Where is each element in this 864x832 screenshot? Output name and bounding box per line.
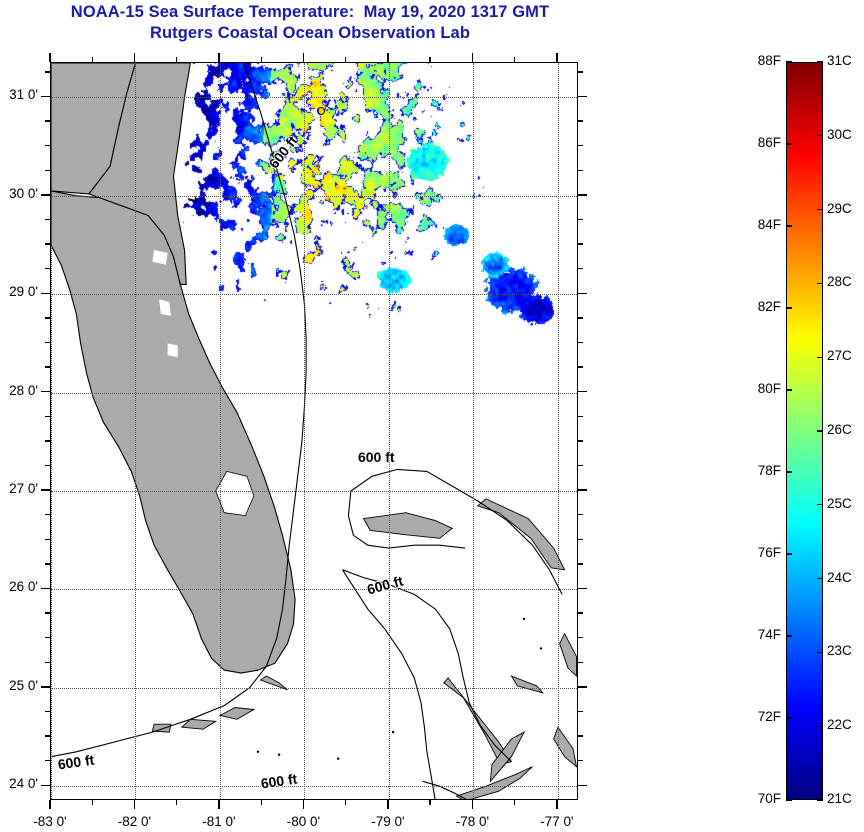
x-axis-tick-minor bbox=[176, 800, 177, 805]
x-axis-tick-top bbox=[218, 53, 219, 62]
colorbar-tick-c bbox=[817, 652, 823, 653]
colorbar-label-celsius: 30C bbox=[827, 127, 864, 142]
y-axis-label: 27 0' bbox=[0, 481, 38, 496]
y-axis-tick-minor bbox=[45, 317, 50, 318]
y-axis-tick-minor bbox=[45, 120, 50, 121]
gridline-horizontal bbox=[51, 491, 577, 492]
colorbar-label-fahrenheit: 86F bbox=[738, 135, 781, 150]
x-axis-tick-minor bbox=[261, 57, 262, 62]
colorbar-tick-c bbox=[817, 578, 823, 579]
colorbar-tick-c bbox=[817, 209, 823, 210]
y-axis-tick-minor-right bbox=[578, 268, 583, 269]
y-axis-label: 24 0' bbox=[0, 776, 38, 791]
y-axis-label: 30 0' bbox=[0, 186, 38, 201]
y-axis-tick-right bbox=[578, 785, 587, 786]
colorbar-tick-f bbox=[786, 225, 792, 226]
y-axis-tick bbox=[41, 96, 50, 97]
x-axis-tick-top bbox=[472, 53, 473, 62]
y-axis-tick bbox=[41, 293, 50, 294]
y-axis-tick-minor bbox=[45, 612, 50, 613]
colorbar-label-celsius: 27C bbox=[827, 348, 864, 363]
lake-inland-2 bbox=[183, 186, 197, 200]
y-axis-tick bbox=[41, 785, 50, 786]
land-florida-keys-2 bbox=[220, 708, 254, 720]
colorbar-label-celsius: 21C bbox=[827, 791, 864, 806]
sst-map-plot[interactable]: 600 ft600 ft600 ft600 ft600 ft bbox=[50, 62, 578, 800]
gridline-horizontal bbox=[51, 589, 577, 590]
y-axis-tick-minor bbox=[45, 711, 50, 712]
y-axis-tick-minor bbox=[45, 465, 50, 466]
y-axis-tick-right bbox=[578, 489, 587, 490]
contour-label-600ft: 600 ft bbox=[358, 449, 395, 465]
reef-marker-6 bbox=[540, 647, 542, 649]
y-axis-tick-minor bbox=[45, 514, 50, 515]
y-axis-tick-right bbox=[578, 194, 587, 195]
y-axis-tick-minor bbox=[45, 760, 50, 761]
x-axis-tick-minor bbox=[261, 800, 262, 805]
y-axis-tick-minor-right bbox=[578, 71, 583, 72]
colorbar-label-celsius: 23C bbox=[827, 643, 864, 658]
y-axis-tick-minor bbox=[45, 145, 50, 146]
y-axis-tick-minor-right bbox=[578, 440, 583, 441]
page-title: NOAA-15 Sea Surface Temperature: May 19,… bbox=[0, 2, 620, 44]
gridline-horizontal bbox=[51, 786, 577, 787]
x-axis-tick bbox=[556, 800, 557, 809]
y-axis-label: 29 0' bbox=[0, 284, 38, 299]
x-axis-tick-minor bbox=[92, 57, 93, 62]
colorbar-tick-c bbox=[817, 61, 823, 62]
bathymetry-600ft-great-bahama-north bbox=[343, 570, 512, 762]
colorbar-tick-f bbox=[786, 143, 792, 144]
x-axis-label: -83 0' bbox=[5, 814, 95, 829]
y-axis-tick-minor bbox=[45, 440, 50, 441]
colorbar-label-fahrenheit: 78F bbox=[738, 463, 781, 478]
y-axis-tick-minor bbox=[45, 563, 50, 564]
x-axis-label: -78 0' bbox=[427, 814, 517, 829]
y-axis-tick-minor-right bbox=[578, 243, 583, 244]
y-axis-tick-minor bbox=[45, 637, 50, 638]
x-axis-label: -82 0' bbox=[89, 814, 179, 829]
x-axis-tick-minor bbox=[514, 57, 515, 62]
colorbar-label-celsius: 22C bbox=[827, 717, 864, 732]
colorbar-tick-f bbox=[786, 307, 792, 308]
y-axis-tick-minor bbox=[45, 71, 50, 72]
colorbar-label-fahrenheit: 80F bbox=[738, 381, 781, 396]
lake-inland-3 bbox=[202, 152, 213, 163]
colorbar-tick-c bbox=[817, 504, 823, 505]
y-axis-tick-minor bbox=[45, 662, 50, 663]
y-axis-tick-minor bbox=[45, 416, 50, 417]
colorbar-label-fahrenheit: 72F bbox=[738, 709, 781, 724]
y-axis-tick-minor-right bbox=[578, 514, 583, 515]
y-axis-tick bbox=[41, 686, 50, 687]
colorbar-label-celsius: 28C bbox=[827, 274, 864, 289]
land-new-providence bbox=[511, 676, 542, 693]
y-axis-label: 26 0' bbox=[0, 579, 38, 594]
colorbar-label-fahrenheit: 76F bbox=[738, 545, 781, 560]
gridline-horizontal bbox=[51, 97, 577, 98]
colorbar-label-fahrenheit: 70F bbox=[738, 791, 781, 806]
y-axis-tick-minor-right bbox=[578, 539, 583, 540]
y-axis-tick-minor-right bbox=[578, 465, 583, 466]
x-axis-tick-minor bbox=[345, 57, 346, 62]
station-marker-icon bbox=[317, 107, 325, 115]
colorbar-label-fahrenheit: 84F bbox=[738, 217, 781, 232]
colorbar-label-fahrenheit: 82F bbox=[738, 299, 781, 314]
y-axis-tick-minor-right bbox=[578, 416, 583, 417]
x-axis-label: -81 0' bbox=[174, 814, 264, 829]
colorbar-label-celsius: 29C bbox=[827, 201, 864, 216]
colorbar-tick-f bbox=[786, 799, 792, 800]
y-axis-tick-minor-right bbox=[578, 735, 583, 736]
bathymetry-600ft-south bbox=[423, 781, 470, 800]
y-axis-tick-minor-right bbox=[578, 342, 583, 343]
y-axis-tick-minor-right bbox=[578, 612, 583, 613]
y-axis-tick-minor bbox=[45, 268, 50, 269]
reef-marker-1 bbox=[257, 751, 259, 753]
x-axis-tick bbox=[303, 800, 304, 809]
colorbar-label-celsius: 26C bbox=[827, 422, 864, 437]
x-axis-label: -80 0' bbox=[258, 814, 348, 829]
x-axis-tick-top bbox=[303, 53, 304, 62]
y-axis-tick-minor-right bbox=[578, 219, 583, 220]
colorbar-label-celsius: 25C bbox=[827, 496, 864, 511]
title-line-2: Rutgers Coastal Ocean Observation Lab bbox=[0, 23, 620, 44]
colorbar-tick-f bbox=[786, 471, 792, 472]
y-axis-tick-minor bbox=[45, 735, 50, 736]
colorbar-tick-f bbox=[786, 61, 792, 62]
y-axis-tick-minor-right bbox=[578, 145, 583, 146]
reef-marker-3 bbox=[337, 757, 339, 759]
y-axis-tick-minor bbox=[45, 366, 50, 367]
y-axis-tick-right bbox=[578, 686, 587, 687]
x-axis-tick-top bbox=[387, 53, 388, 62]
x-axis-tick-minor bbox=[176, 57, 177, 62]
x-axis-tick bbox=[218, 800, 219, 809]
y-axis-tick-minor-right bbox=[578, 711, 583, 712]
reef-marker-2 bbox=[278, 754, 280, 756]
x-axis-label: -77 0' bbox=[512, 814, 602, 829]
sst-map-page: NOAA-15 Sea Surface Temperature: May 19,… bbox=[0, 0, 864, 832]
colorbar-tick-c bbox=[817, 799, 823, 800]
colorbar-tick-f bbox=[786, 635, 792, 636]
colorbar-tick-c bbox=[817, 726, 823, 727]
x-axis-tick-top bbox=[134, 53, 135, 62]
y-axis-tick bbox=[41, 391, 50, 392]
y-axis-tick-minor bbox=[45, 342, 50, 343]
y-axis-label: 28 0' bbox=[0, 383, 38, 398]
y-axis-tick-right bbox=[578, 96, 587, 97]
gridline-horizontal bbox=[51, 196, 577, 197]
gridline-horizontal bbox=[51, 294, 577, 295]
x-axis-tick bbox=[387, 800, 388, 809]
x-axis-label: -79 0' bbox=[343, 814, 433, 829]
colorbar-tick-f bbox=[786, 717, 792, 718]
x-axis-tick-top bbox=[556, 53, 557, 62]
y-axis-tick bbox=[41, 489, 50, 490]
land-eleuthera bbox=[560, 634, 577, 676]
land-florida-peninsula bbox=[51, 191, 295, 673]
y-axis-tick-minor-right bbox=[578, 317, 583, 318]
colorbar-tick-f bbox=[786, 389, 792, 390]
x-axis-tick bbox=[49, 800, 50, 809]
land-grand-bahama bbox=[364, 513, 453, 539]
x-axis-tick-minor bbox=[429, 800, 430, 805]
y-axis-tick-minor bbox=[45, 243, 50, 244]
x-axis-tick-minor bbox=[429, 57, 430, 62]
x-axis-tick-minor bbox=[345, 800, 346, 805]
gridline-horizontal bbox=[51, 393, 577, 394]
y-axis-label: 25 0' bbox=[0, 678, 38, 693]
colorbar-tick-c bbox=[817, 357, 823, 358]
y-axis-label: 31 0' bbox=[0, 87, 38, 102]
x-axis-tick bbox=[134, 800, 135, 809]
y-axis-tick-minor-right bbox=[578, 366, 583, 367]
y-axis-tick bbox=[41, 194, 50, 195]
x-axis-tick-minor bbox=[92, 800, 93, 805]
y-axis-tick-minor bbox=[45, 170, 50, 171]
colorbar-tick-c bbox=[817, 430, 823, 431]
y-axis-tick-minor bbox=[45, 539, 50, 540]
y-axis-tick-minor-right bbox=[578, 563, 583, 564]
land-and-coastline-layer bbox=[51, 63, 578, 800]
lake-kissimmee bbox=[168, 343, 178, 357]
colorbar-tick-c bbox=[817, 135, 823, 136]
y-axis-tick-minor-right bbox=[578, 170, 583, 171]
y-axis-tick-minor-right bbox=[578, 637, 583, 638]
colorbar-tick-f bbox=[786, 553, 792, 554]
y-axis-tick-right bbox=[578, 391, 587, 392]
colorbar-label-fahrenheit: 74F bbox=[738, 627, 781, 642]
reef-marker-4 bbox=[392, 731, 394, 733]
y-axis-tick-minor-right bbox=[578, 662, 583, 663]
colorbar-label-celsius: 24C bbox=[827, 570, 864, 585]
colorbar-tick-c bbox=[817, 283, 823, 284]
y-axis-tick-right bbox=[578, 293, 587, 294]
gridline-horizontal bbox=[51, 688, 577, 689]
y-axis-tick-minor-right bbox=[578, 120, 583, 121]
x-axis-tick bbox=[472, 800, 473, 809]
x-axis-tick-minor bbox=[514, 800, 515, 805]
colorbar-label-celsius: 31C bbox=[827, 53, 864, 68]
y-axis-tick bbox=[41, 588, 50, 589]
y-axis-tick-minor bbox=[45, 219, 50, 220]
title-line-1: NOAA-15 Sea Surface Temperature: May 19,… bbox=[0, 2, 620, 23]
colorbar-label-fahrenheit: 88F bbox=[738, 53, 781, 68]
reef-marker-5 bbox=[523, 618, 525, 620]
x-axis-tick-top bbox=[49, 53, 50, 62]
y-axis-tick-right bbox=[578, 588, 587, 589]
y-axis-tick-minor-right bbox=[578, 760, 583, 761]
